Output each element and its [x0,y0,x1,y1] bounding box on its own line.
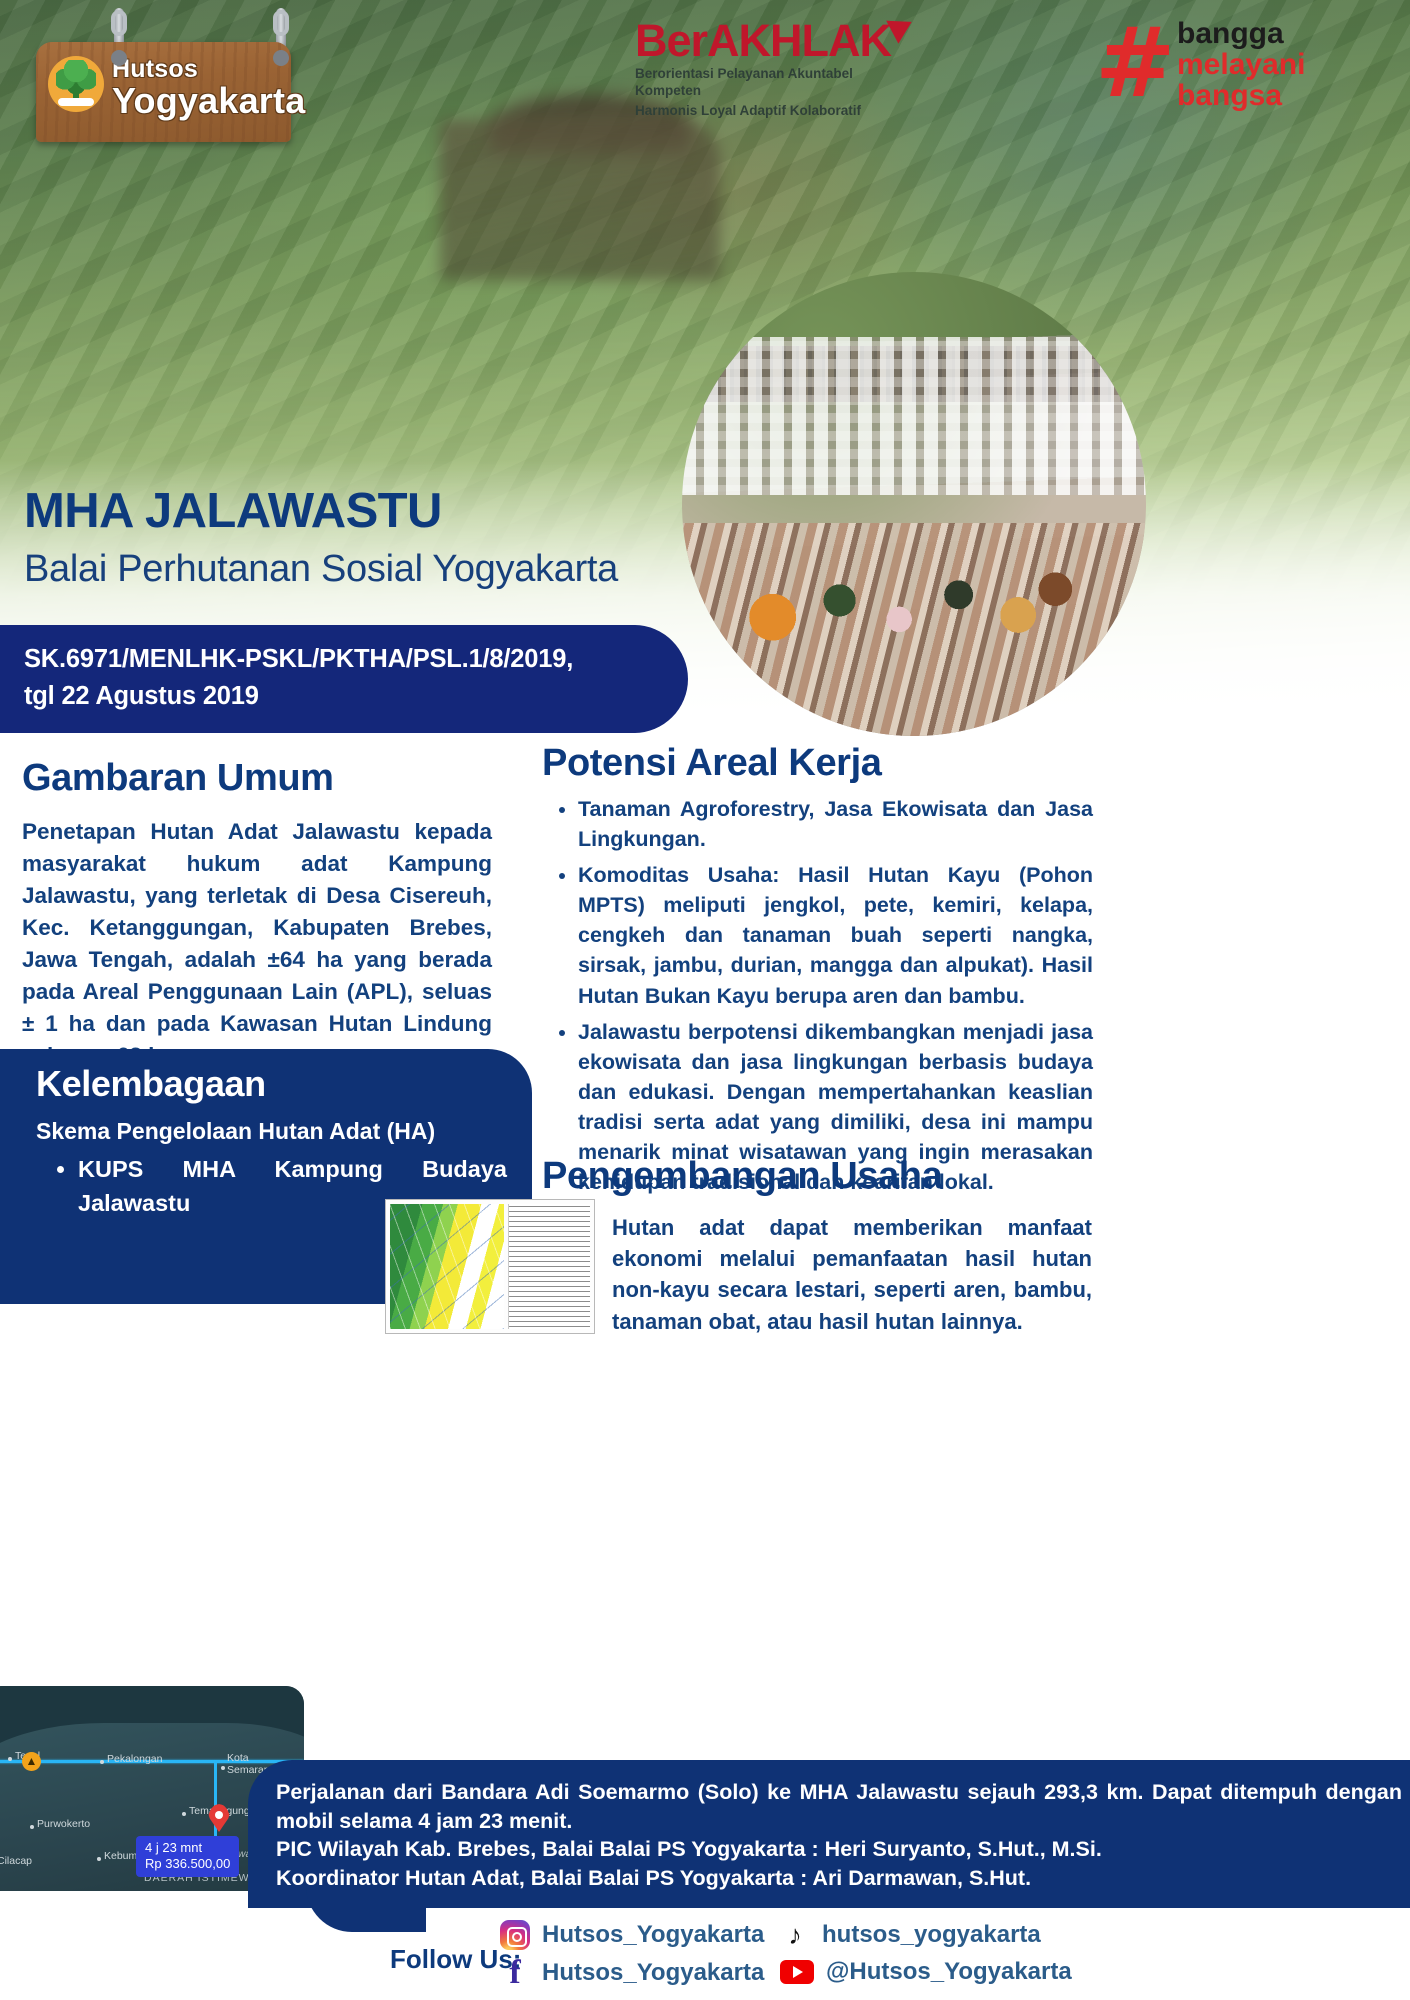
facebook-handle[interactable]: Hutsos_Yogyakarta [542,1959,764,1987]
section-heading-potensi-areal-kerja: Potensi Areal Kerja [542,742,881,785]
berakhlak-wordmark: BerAKHLAK [635,18,895,63]
pengembangan-usaha-body: Hutan adat dapat memberikan manfaat ekon… [612,1212,1092,1337]
bangga-line2: melayani [1177,50,1305,81]
berakhlak-tagline-line2: Harmonis Loyal Adaptif Kolaboratif [635,102,895,119]
bangga-melayani-bangsa-logo: # bangga melayani bangsa [1095,14,1395,114]
youtube-handle[interactable]: @Hutsos_Yogyakarta [826,1958,1072,1986]
hashtag-icon: # [1095,26,1171,102]
map-label-pekalongan: Pekalongan [107,1753,162,1765]
footer-pic-wilayah: PIC Wilayah Kab. Brebes, Balai Balai PS … [276,1835,1402,1864]
footer-travel-info: Perjalanan dari Bandara Adi Soemarmo (So… [276,1778,1402,1835]
sk-decree-banner: SK.6971/MENLHK-PSKL/PKTHA/PSL.1/8/2019, … [0,625,688,733]
tiktok-music-note-icon[interactable]: ♪ [780,1920,810,1950]
route-duration: 4 j 23 mnt [145,1840,230,1856]
wooden-board: Hutsos Yogyakarta [36,42,291,142]
berakhlak-tagline-line1: Berorientasi Pelayanan Akuntabel Kompete… [635,65,895,100]
bangga-line1: bangga [1177,19,1284,50]
youtube-icon[interactable] [780,1960,814,1984]
hero-traditional-house [440,120,720,280]
tree-logo-icon [48,56,104,112]
instagram-icon[interactable] [500,1920,530,1950]
ceremony-circular-photo [682,272,1146,736]
page-subtitle: Balai Perhutanan Sosial Yogyakarta [24,548,618,591]
map-label-cilacap: Cilacap [0,1855,32,1867]
bangga-line3: bangsa [1177,81,1282,112]
section-heading-kelembagaan: Kelembagaan [36,1063,266,1105]
route-cost: Rp 336.500,00 [145,1856,230,1872]
potensi-list: Tanaman Agroforestry, Jasa Ekowisata dan… [548,794,1093,1203]
map-label-purwokerto: Purwokerto [37,1818,90,1830]
social-link-facebook[interactable]: f Hutsos_Yogyakarta [500,1958,764,1988]
page-title: MHA JALAWASTU [24,483,442,539]
peta-hutan-adat-thumbnail [385,1199,595,1334]
chain-ring-right-icon [273,10,289,36]
sk-number: SK.6971/MENLHK-PSKL/PKTHA/PSL.1/8/2019, [24,641,648,678]
roadwork-warning-icon: ▲ [22,1752,41,1771]
social-link-instagram[interactable]: Hutsos_Yogyakarta [500,1920,764,1950]
gambaran-umum-body: Penetapan Hutan Adat Jalawastu kepada ma… [22,816,492,1072]
berakhlak-logo: BerAKHLAK Berorientasi Pelayanan Akuntab… [635,18,895,119]
poster-root: Hutsos Yogyakarta BerAKHLAK Berorientasi… [0,0,1410,2000]
chain-ring-left-icon [111,10,127,36]
list-item: Tanaman Agroforestry, Jasa Ekowisata dan… [578,794,1093,854]
list-item: Komoditas Usaha: Hasil Hutan Kayu (Pohon… [578,860,1093,1010]
social-link-tiktok[interactable]: ♪ hutsos_yogyakarta [780,1920,1041,1950]
kelembagaan-subheading: Skema Pengelolaan Hutan Adat (HA) [36,1118,506,1145]
instagram-handle[interactable]: Hutsos_Yogyakarta [542,1921,764,1949]
route-duration-chip: 4 j 23 mnt Rp 336.500,00 [136,1836,239,1877]
facebook-icon[interactable]: f [500,1958,530,1988]
section-heading-pengembangan-usaha: Pengembangan Usaha [542,1155,942,1198]
bolt-right-icon [273,50,289,66]
footer-koordinator: Koordinator Hutan Adat, Balai Balai PS Y… [276,1864,1402,1893]
section-heading-gambaran-umum: Gambaran Umum [22,757,334,800]
bolt-left-icon [111,50,127,66]
tiktok-handle[interactable]: hutsos_yogyakarta [822,1921,1041,1949]
hutsos-wooden-sign: Hutsos Yogyakarta [18,6,298,156]
sign-title-line2: Yogyakarta [112,80,305,122]
social-bar-curve [306,1886,426,1932]
social-link-youtube[interactable]: @Hutsos_Yogyakarta [780,1958,1072,1986]
sk-date: tgl 22 Agustus 2019 [24,678,648,715]
